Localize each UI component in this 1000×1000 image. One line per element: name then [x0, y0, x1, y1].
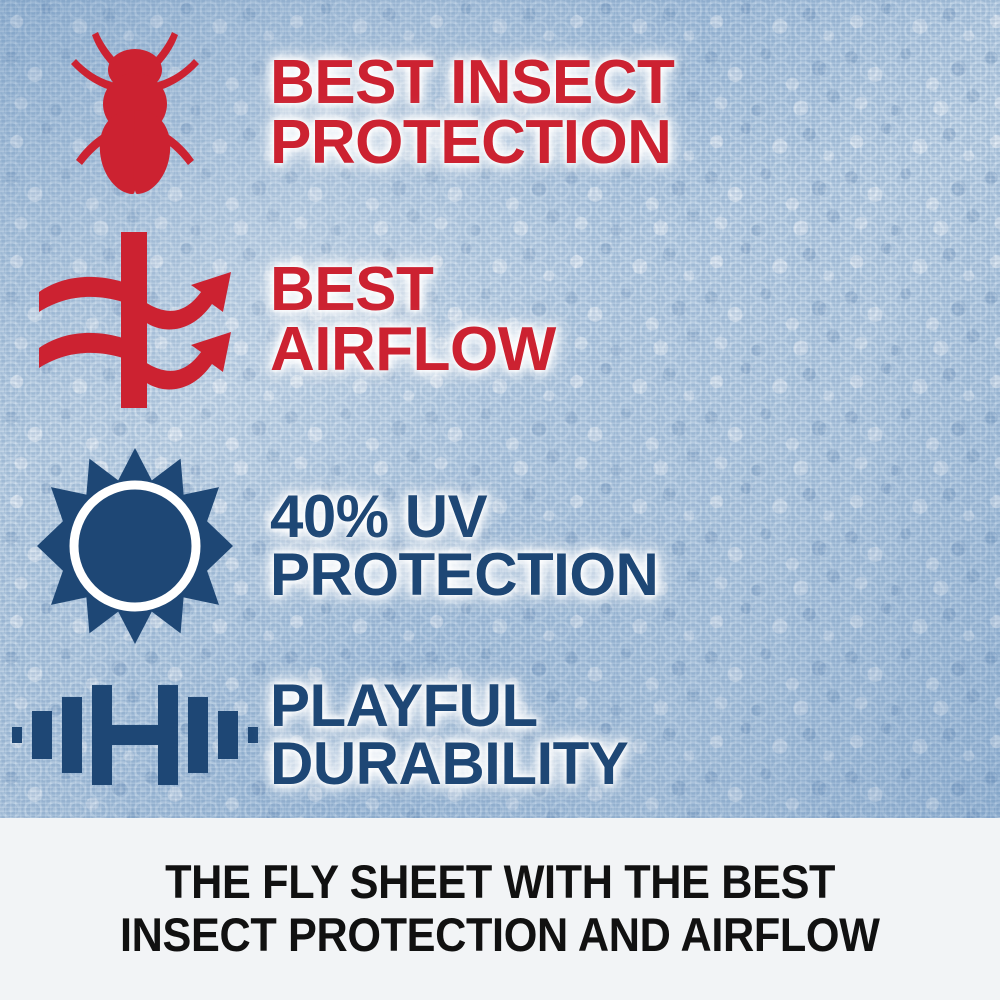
bottom-banner: THE FLY SHEET WITH THE BEST INSECT PROTE…: [0, 818, 1000, 1000]
banner-line-1: THE FLY SHEET WITH THE BEST: [165, 856, 835, 909]
feature-list: BEST INSECT PROTECTION: [0, 0, 1000, 818]
feature-row-airflow: BEST AIRFLOW: [0, 222, 1000, 417]
banner-line-2: INSECT PROTECTION AND AIRFLOW: [120, 909, 880, 962]
infographic-page: BEST INSECT PROTECTION: [0, 0, 1000, 1000]
dumbbell-icon: [0, 675, 270, 795]
feature-row-uv-protection: 40% UV PROTECTION: [0, 438, 1000, 653]
sun-uv-icon: [0, 446, 270, 646]
feature-label-insect-protection: BEST INSECT PROTECTION: [270, 53, 1000, 172]
airflow-icon: [0, 230, 270, 410]
feature-row-durability: PLAYFUL DURABILITY: [0, 655, 1000, 815]
feature-label-uv-protection: 40% UV PROTECTION: [270, 488, 1000, 603]
fly-icon: [0, 26, 270, 201]
feature-row-insect-protection: BEST INSECT PROTECTION: [0, 18, 1000, 208]
feature-label-airflow: BEST AIRFLOW: [270, 260, 1000, 379]
feature-label-durability: PLAYFUL DURABILITY: [270, 677, 1000, 792]
